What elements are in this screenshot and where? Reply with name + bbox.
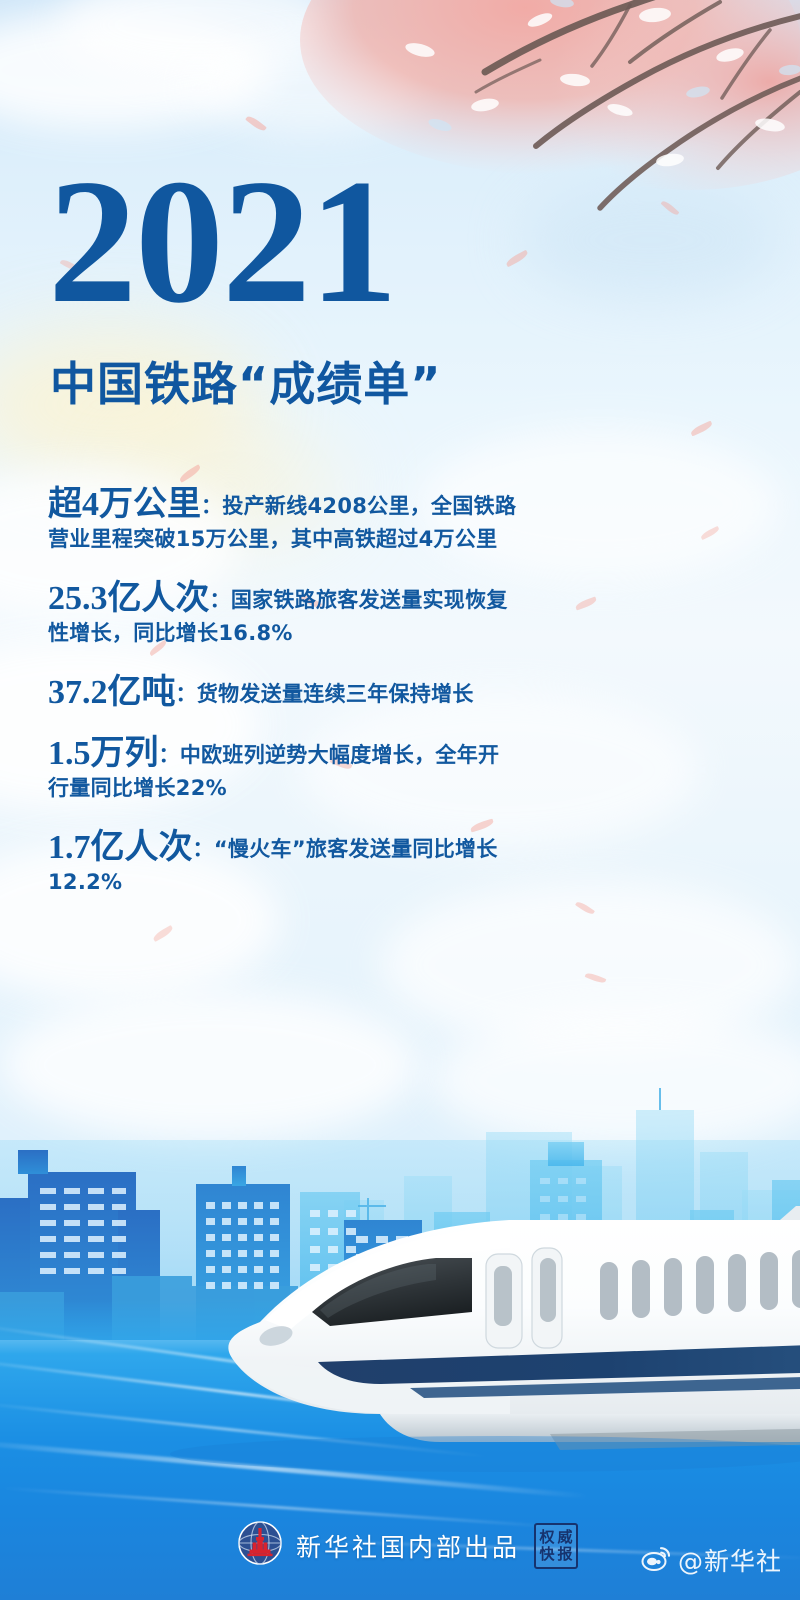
publisher-label: 新华社国内部出品 (296, 1528, 520, 1564)
stat-separator: ： (176, 682, 197, 706)
weibo-handle: @新华社 (678, 1542, 782, 1578)
xinhua-emblem-icon (238, 1521, 282, 1570)
stat-description: 货物发送量连续三年保持增长 (197, 682, 474, 706)
stat-separator: ： (159, 743, 180, 767)
stat-separator: ： (210, 588, 231, 612)
publisher-brand: 新华社国内部出品 权 威 快 报 (238, 1521, 578, 1570)
weibo-icon (641, 1545, 671, 1576)
weibo-watermark: @新华社 (641, 1542, 782, 1578)
high-speed-train (80, 1162, 800, 1492)
stats-list: 超4万公里：投产新线4208公里，全国铁路营业里程突破15万公里，其中高铁超过4… (48, 488, 518, 925)
stat-item: 1.5万列：中欧班列逆势大幅度增长，全年开行量同比增长22% (48, 737, 518, 805)
stat-item: 25.3亿人次：国家铁路旅客发送量实现恢复性增长，同比增长16.8% (48, 582, 518, 650)
stat-item: 37.2亿吨：货物发送量连续三年保持增长 (48, 676, 518, 711)
stat-keyword: 1.7亿人次 (48, 829, 193, 866)
stat-item: 1.7亿人次：“慢火车”旅客发送量同比增长12.2% (48, 831, 518, 899)
page-subtitle: 中国铁路“成绩单” (50, 348, 441, 414)
authority-stamp: 权 威 快 报 (534, 1523, 578, 1569)
stamp-char-4: 报 (556, 1546, 574, 1563)
stat-item: 超4万公里：投产新线4208公里，全国铁路营业里程突破15万公里，其中高铁超过4… (48, 488, 518, 556)
stat-separator: ： (201, 494, 222, 518)
stat-keyword: 1.5万列 (48, 735, 159, 772)
stat-keyword: 超4万公里 (48, 486, 201, 523)
stamp-char-3: 快 (538, 1546, 556, 1563)
poster-root: 2021 中国铁路“成绩单” 超4万公里：投产新线4208公里，全国铁路营业里程… (0, 0, 800, 1600)
stat-separator: ： (193, 837, 214, 861)
stamp-char-1: 权 (538, 1529, 556, 1546)
stamp-char-2: 威 (556, 1529, 574, 1546)
stat-keyword: 25.3亿人次 (48, 580, 210, 617)
page-title-year: 2021 (48, 152, 396, 330)
footer-bar: 新华社国内部出品 权 威 快 报 @新华社 (0, 1488, 800, 1600)
stat-keyword: 37.2亿吨 (48, 674, 176, 711)
